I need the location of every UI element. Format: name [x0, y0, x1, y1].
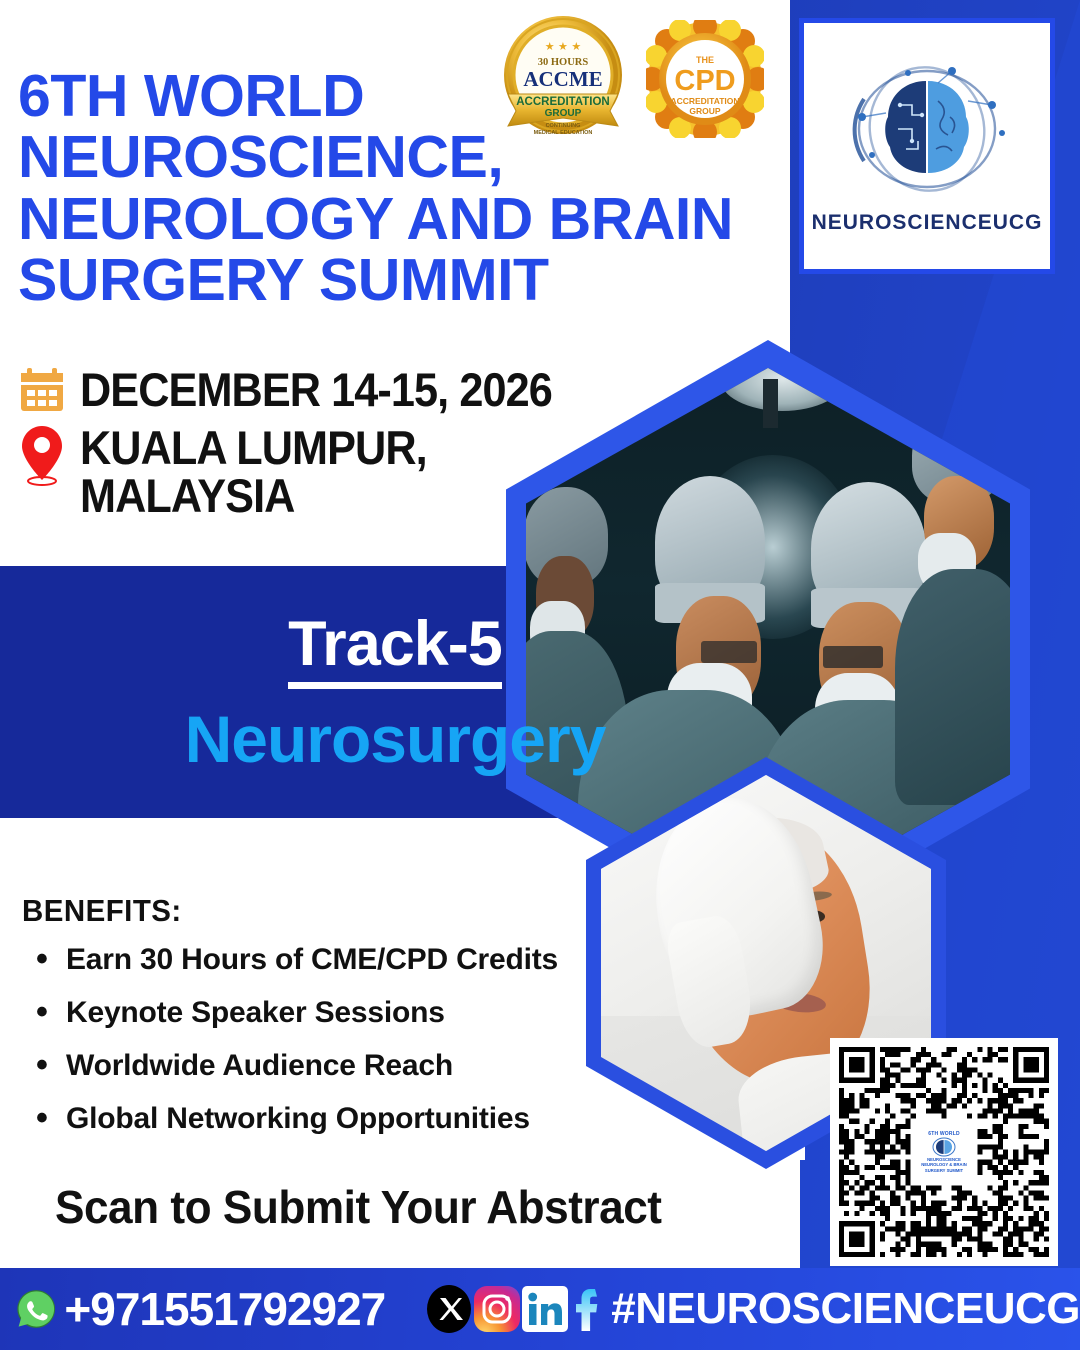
- list-item: Keynote Speaker Sessions: [22, 996, 662, 1030]
- svg-text:ACCME: ACCME: [523, 67, 602, 91]
- list-item: Worldwide Audience Reach: [22, 1049, 662, 1083]
- brand-logo-box: NEUROSCIENCEUCG: [799, 18, 1055, 274]
- svg-text:GROUP: GROUP: [689, 106, 721, 116]
- svg-text:ACCREDITATION: ACCREDITATION: [516, 96, 609, 108]
- event-location: KUALA LUMPUR, MALAYSIA: [80, 424, 427, 521]
- qr-logo-bottom: NEUROSCIENCE NEUROLOGY & BRAIN SURGERY S…: [921, 1157, 967, 1173]
- benefits-list: Earn 30 Hours of CME/CPD Credits Keynote…: [22, 943, 662, 1136]
- scan-cta-text: Scan to Submit Your Abstract: [55, 1180, 727, 1234]
- track-name: Neurosurgery: [185, 701, 606, 777]
- track-number: Track-5: [288, 608, 502, 689]
- accreditation-badges: ★ ★ ★ 30 HOURS ACCME ACCREDITATION GROUP…: [500, 14, 768, 146]
- svg-text:★ ★ ★: ★ ★ ★: [545, 40, 582, 53]
- linkedin-icon[interactable]: [521, 1285, 569, 1333]
- event-location-line2: MALAYSIA: [80, 472, 427, 520]
- track-section: Track-5 Neurosurgery: [0, 566, 790, 818]
- qr-code[interactable]: 6TH WORLD NEUROSCIENCE NEUROLOGY & BRAIN…: [830, 1038, 1058, 1266]
- qr-logo-line2: NEUROLOGY & BRAIN: [921, 1162, 967, 1167]
- facebook-icon[interactable]: [565, 1285, 613, 1333]
- benefits-section: BENEFITS: Earn 30 Hours of CME/CPD Credi…: [22, 893, 662, 1155]
- cpd-accreditation-badge: THE CPD ACCREDITATION GROUP: [646, 20, 764, 138]
- title-line-4: SURGERY SUMMIT: [18, 250, 788, 311]
- list-item: Global Networking Opportunities: [22, 1102, 662, 1136]
- map-pin-icon: [18, 424, 66, 486]
- accme-accreditation-badge: ★ ★ ★ 30 HOURS ACCME ACCREDITATION GROUP…: [500, 14, 626, 140]
- whatsapp-icon[interactable]: [16, 1278, 56, 1340]
- x-twitter-icon[interactable]: [425, 1285, 473, 1333]
- svg-text:ACCREDITATION: ACCREDITATION: [670, 96, 739, 106]
- qr-brain-icon: [931, 1137, 957, 1157]
- svg-text:CPD: CPD: [674, 65, 735, 97]
- event-date-row: DECEMBER 14-15, 2026: [18, 366, 658, 414]
- qr-center-logo: 6TH WORLD NEUROSCIENCE NEUROLOGY & BRAIN…: [913, 1121, 975, 1183]
- list-item: Earn 30 Hours of CME/CPD Credits: [22, 943, 662, 977]
- event-location-line1: KUALA LUMPUR,: [80, 424, 427, 472]
- qr-canvas: 6TH WORLD NEUROSCIENCE NEUROLOGY & BRAIN…: [839, 1047, 1049, 1257]
- whatsapp-phone-number[interactable]: +971551792927: [64, 1282, 385, 1336]
- svg-text:GROUP: GROUP: [545, 108, 582, 119]
- calendar-icon: [18, 366, 66, 414]
- qr-logo-line1: NEUROSCIENCE: [927, 1157, 961, 1162]
- instagram-icon[interactable]: [473, 1285, 521, 1333]
- qr-logo-line3: SURGERY SUMMIT: [925, 1168, 963, 1173]
- svg-text:CONTINUING: CONTINUING: [546, 123, 581, 129]
- title-line-3: NEUROLOGY AND BRAIN: [18, 189, 788, 250]
- contact-footer-bar: +971551792927: [0, 1268, 1080, 1350]
- brain-circuit-logo-icon: [842, 57, 1012, 207]
- benefits-heading: BENEFITS:: [22, 893, 630, 929]
- conference-poster: 6TH WORLD NEUROSCIENCE, NEUROLOGY AND BR…: [0, 0, 1080, 1350]
- event-date: DECEMBER 14-15, 2026: [80, 366, 552, 413]
- social-icons: [425, 1285, 613, 1333]
- logo-wordmark: NEUROSCIENCEUCG: [812, 211, 1043, 235]
- social-hashtag: #NEUROSCIENCEUCG: [611, 1284, 1080, 1334]
- svg-text:MEDICAL EDUCATION: MEDICAL EDUCATION: [534, 130, 593, 136]
- svg-text:THE: THE: [696, 55, 714, 65]
